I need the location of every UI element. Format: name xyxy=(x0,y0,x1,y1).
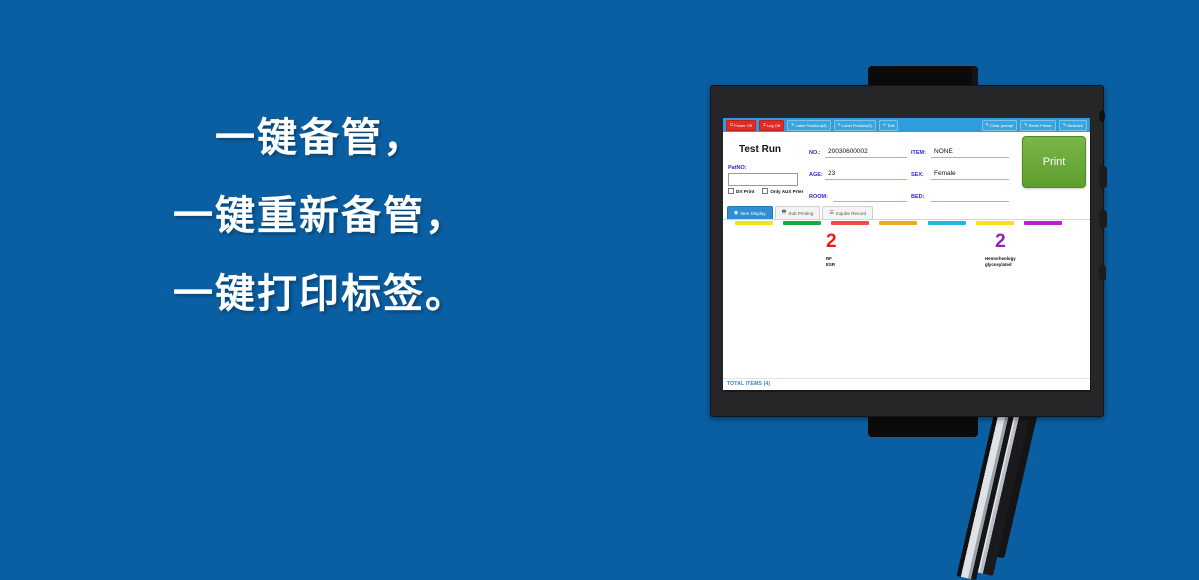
app-toolbar: ⏻ Power Off ⎋ Log Off ✎ Label Position(M… xyxy=(723,118,1090,132)
field-bed-value[interactable] xyxy=(931,191,1009,202)
page-title: Test Run xyxy=(739,144,781,155)
checkbox-drt-print-label: Drt Print xyxy=(736,189,754,194)
print-button[interactable]: Print xyxy=(1022,136,1086,188)
bezel-edge-port-c xyxy=(1099,210,1107,228)
form-column-left: NO.: 20030600002 AGE: 23 ROOM: xyxy=(809,136,907,202)
tab-inquire-record-label: Inquire Record xyxy=(836,211,866,216)
label-position-m-label: Label Position(M) xyxy=(795,121,826,130)
field-room: ROOM: xyxy=(809,180,907,202)
field-sex-label: SEX: xyxy=(911,172,931,178)
field-item-label: ITEM: xyxy=(911,150,931,156)
field-no: NO.: 20030600002 xyxy=(809,136,907,158)
field-bed: BED: xyxy=(911,180,1009,202)
tab-sub-printing[interactable]: 🖶 Sub Printing xyxy=(775,206,821,219)
label-position-m-button[interactable]: ✎ Label Position(M) xyxy=(787,120,830,131)
test-item-group-2[interactable]: 2Hemorheologyglycosylated xyxy=(985,232,1016,268)
patno-input[interactable] xyxy=(728,173,798,186)
application-screen: ⏻ Power Off ⎋ Log Off ✎ Label Position(M… xyxy=(723,118,1090,390)
tag-icon: ✎ xyxy=(791,123,794,127)
tag-icon: ✎ xyxy=(838,123,841,127)
field-age-value[interactable]: 23 xyxy=(825,169,907,180)
test-item-count: 2 xyxy=(826,232,837,251)
marketing-copy: 一键备管， 一键重新备管， 一键打印标签。 xyxy=(0,118,640,314)
tube-color-bar-6[interactable] xyxy=(976,221,1014,225)
exit-button[interactable]: ⇤ Exit xyxy=(879,120,898,131)
log-off-button[interactable]: ⎋ Log Off xyxy=(759,120,784,131)
field-age-label: AGE: xyxy=(809,172,825,178)
minimize-button[interactable]: ✎ Minimize xyxy=(1059,120,1087,131)
page-root: 一键备管， 一键重新备管， 一键打印标签。 ⏻ Power Off xyxy=(0,0,1199,516)
marketing-line-2: 一键重新备管， xyxy=(0,196,640,236)
bezel-edge-port-a xyxy=(1099,110,1105,122)
tag-icon: ✎ xyxy=(1024,123,1027,127)
reset-printer-label: Reset Printer xyxy=(1029,121,1052,130)
label-position-s-button[interactable]: ✎ Label Position(S) xyxy=(834,120,877,131)
field-item: ITEM: NONE xyxy=(911,136,1009,158)
field-age: AGE: 23 xyxy=(809,158,907,180)
logoff-icon: ⎋ xyxy=(763,123,766,127)
test-item-group-1[interactable]: 2RFESR xyxy=(826,232,837,268)
tube-color-bar-4[interactable] xyxy=(879,221,917,225)
tag-icon: ✎ xyxy=(1063,123,1066,127)
tab-item-display-label: Item Display xyxy=(740,211,765,216)
clear-prompt-button[interactable]: ✎ Clear prompt xyxy=(982,120,1017,131)
tab-bar: ◉ Item Display 🖶 Sub Printing ☰ Inquire … xyxy=(723,206,1090,220)
exit-icon: ⇤ xyxy=(883,123,886,127)
device-assembly: ⏻ Power Off ⎋ Log Off ✎ Label Position(M… xyxy=(690,60,1160,516)
test-item-names: Hemorheologyglycosylated xyxy=(985,256,1016,268)
test-item-name: ESR xyxy=(826,262,837,268)
tube-color-bar-3[interactable] xyxy=(831,221,869,225)
tab-inquire-record[interactable]: ☰ Inquire Record xyxy=(822,206,873,219)
power-off-button[interactable]: ⏻ Power Off xyxy=(726,120,756,131)
tag-icon: ✎ xyxy=(986,123,989,127)
checkbox-box-icon xyxy=(762,188,768,194)
patient-form: Test Run PatNO: Drt Print Only AUX Prter xyxy=(723,132,1090,206)
test-item-name: glycosylated xyxy=(985,262,1016,268)
tab-item-display[interactable]: ◉ Item Display xyxy=(727,206,773,219)
field-room-label: ROOM: xyxy=(809,194,833,200)
test-item-names: RFESR xyxy=(826,256,837,268)
marketing-line-1: 一键备管， xyxy=(0,118,640,158)
label-position-s-label: Label Position(S) xyxy=(842,121,872,130)
test-item-count: 2 xyxy=(985,232,1016,251)
field-sex: SEX: Female xyxy=(911,158,1009,180)
tube-color-bar-5[interactable] xyxy=(928,221,966,225)
checkbox-drt-print[interactable]: Drt Print xyxy=(728,188,754,194)
patno-label: PatNO: xyxy=(728,165,747,171)
marketing-line-3: 一键打印标签。 xyxy=(0,274,640,314)
item-display-area: 2RFESR2Hemorheologyglycosylated xyxy=(723,226,1090,374)
status-bar: TOTAL ITEMS (4) xyxy=(723,378,1090,390)
reset-printer-button[interactable]: ✎ Reset Printer xyxy=(1020,120,1056,131)
total-items-label: TOTAL ITEMS (4) xyxy=(727,381,770,387)
checkbox-box-icon xyxy=(728,188,734,194)
field-bed-label: BED: xyxy=(911,194,931,200)
printer-icon: 🖶 xyxy=(782,209,787,217)
form-column-right: ITEM: NONE SEX: Female BED: xyxy=(911,136,1009,202)
bezel-edge-port-d xyxy=(1099,265,1106,281)
target-icon: ◉ xyxy=(734,210,738,216)
log-off-label: Log Off xyxy=(767,121,780,130)
checkbox-only-aux-prter-label: Only AUX Prter xyxy=(770,189,803,194)
field-room-value[interactable] xyxy=(833,191,907,202)
tube-color-bar-1[interactable] xyxy=(735,221,773,225)
field-no-label: NO.: xyxy=(809,150,825,156)
tab-sub-printing-label: Sub Printing xyxy=(788,211,813,216)
tube-color-bar-7[interactable] xyxy=(1024,221,1062,225)
clear-prompt-label: Clear prompt xyxy=(990,121,1013,130)
field-no-value[interactable]: 20030600002 xyxy=(825,147,907,158)
power-icon: ⏻ xyxy=(730,123,733,127)
minimize-label: Minimize xyxy=(1067,121,1083,130)
exit-label: Exit xyxy=(888,121,895,130)
bezel-edge-port-b xyxy=(1099,166,1107,188)
power-off-label: Power Off xyxy=(734,121,752,130)
list-icon: ☰ xyxy=(829,210,833,216)
field-item-value[interactable]: NONE xyxy=(931,147,1009,158)
checkbox-only-aux-prter[interactable]: Only AUX Prter xyxy=(762,188,803,194)
print-options: Drt Print Only AUX Prter xyxy=(728,188,803,194)
tube-color-bar-2[interactable] xyxy=(783,221,821,225)
field-sex-value[interactable]: Female xyxy=(931,169,1009,180)
